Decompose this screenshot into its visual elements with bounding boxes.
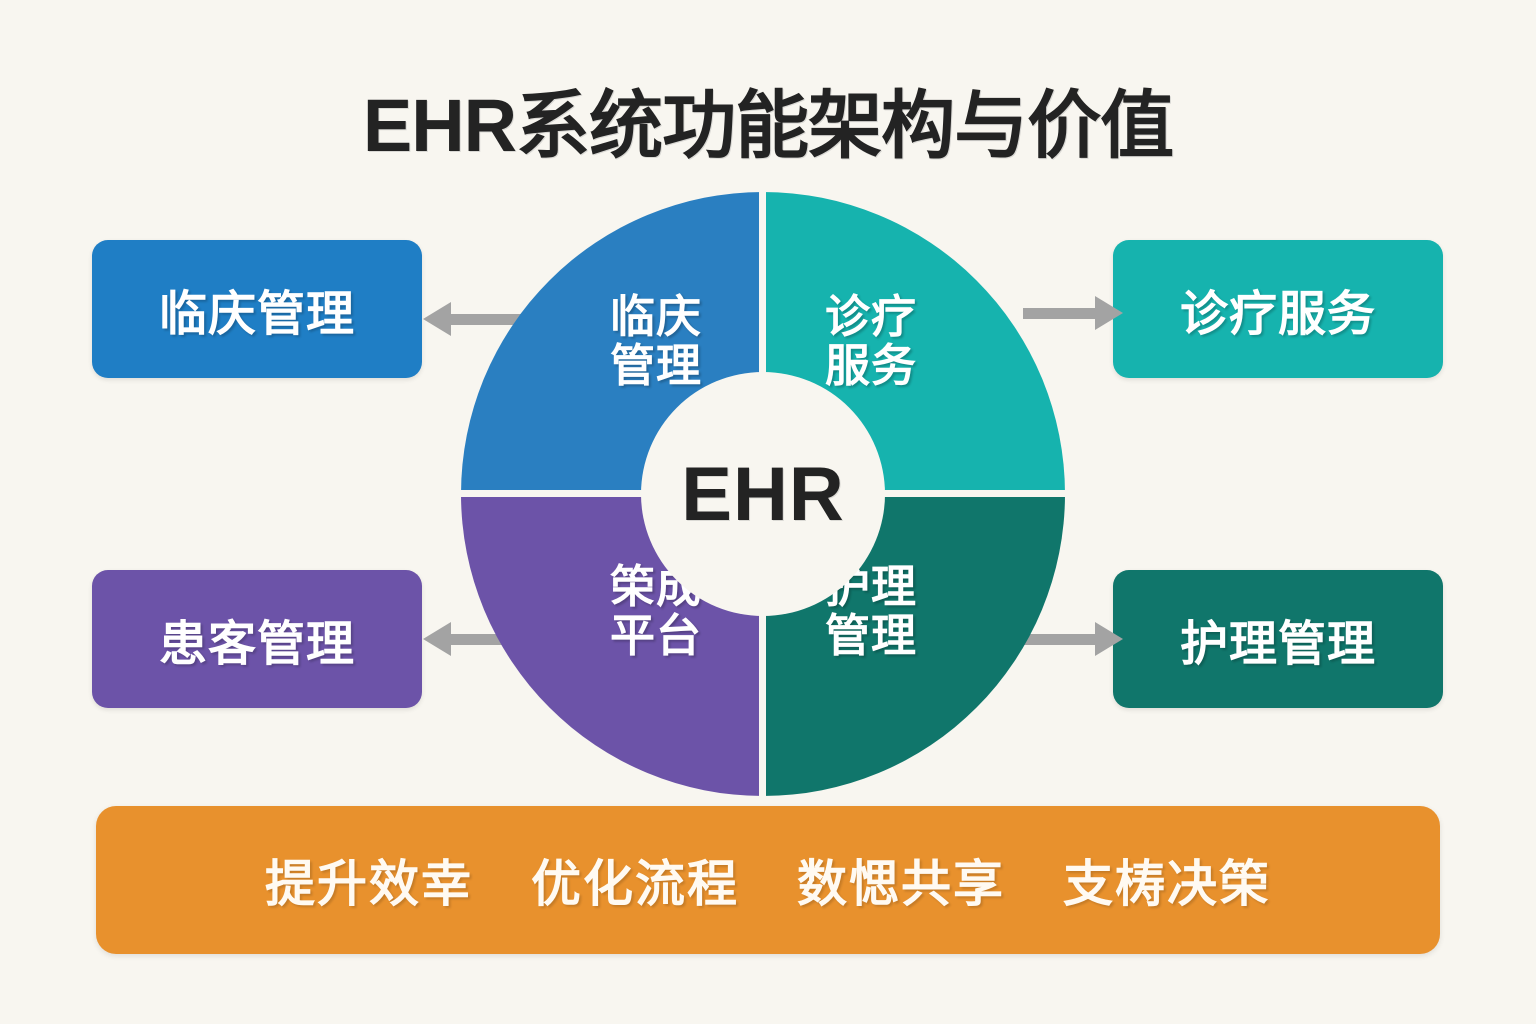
value-item-efficiency: 提升效幸 bbox=[265, 844, 473, 916]
wheel-center-hub[interactable]: EHR bbox=[641, 372, 885, 616]
quadrant-label-line2: 管理 bbox=[786, 611, 956, 660]
quadrant-label-line2: 平台 bbox=[571, 611, 741, 660]
quadrant-label-line1: 临庆 bbox=[571, 292, 741, 341]
page-title: EHR系统功能架构与价值 bbox=[0, 66, 1536, 173]
value-banner-items: 提升效幸 优化流程 数愢共享 支梼决筞 bbox=[265, 844, 1271, 916]
side-box-label: 诊疗服务 bbox=[1180, 274, 1376, 344]
side-box-clinical-management[interactable]: 临庆管理 bbox=[92, 240, 422, 378]
arrow-head bbox=[423, 302, 451, 336]
arrow-head bbox=[423, 622, 451, 656]
diagram-canvas: EHR系统功能架构与价值 临庆管理 患客管理 诊疗服务 护理管理 bbox=[0, 0, 1536, 1024]
quadrant-label-diagnosis-service: 诊疗 服务 bbox=[786, 292, 956, 390]
quadrant-label-clinical-management: 临庆 管理 bbox=[571, 292, 741, 390]
arrow-head bbox=[1095, 622, 1123, 656]
side-box-nursing-management[interactable]: 护理管理 bbox=[1113, 570, 1443, 708]
quadrant-label-line1: 诊疗 bbox=[786, 292, 956, 341]
value-banner: 提升效幸 优化流程 数愢共享 支梼决筞 bbox=[96, 806, 1440, 954]
arrow-head bbox=[1095, 296, 1123, 330]
side-box-patient-management[interactable]: 患客管理 bbox=[92, 570, 422, 708]
side-box-diagnosis-service[interactable]: 诊疗服务 bbox=[1113, 240, 1443, 378]
side-box-label: 护理管理 bbox=[1180, 604, 1376, 674]
value-item-process: 优化流程 bbox=[531, 844, 739, 916]
ehr-wheel: 临庆 管理 诊疗 服务 筞成 平台 护理 管理 EHR bbox=[461, 192, 1065, 796]
value-item-data-sharing: 数愢共享 bbox=[797, 844, 1005, 916]
value-item-decision-support: 支梼决筞 bbox=[1063, 844, 1271, 916]
side-box-label: 患客管理 bbox=[159, 604, 355, 674]
side-box-label: 临庆管理 bbox=[159, 274, 355, 344]
hub-label: EHR bbox=[681, 451, 844, 538]
